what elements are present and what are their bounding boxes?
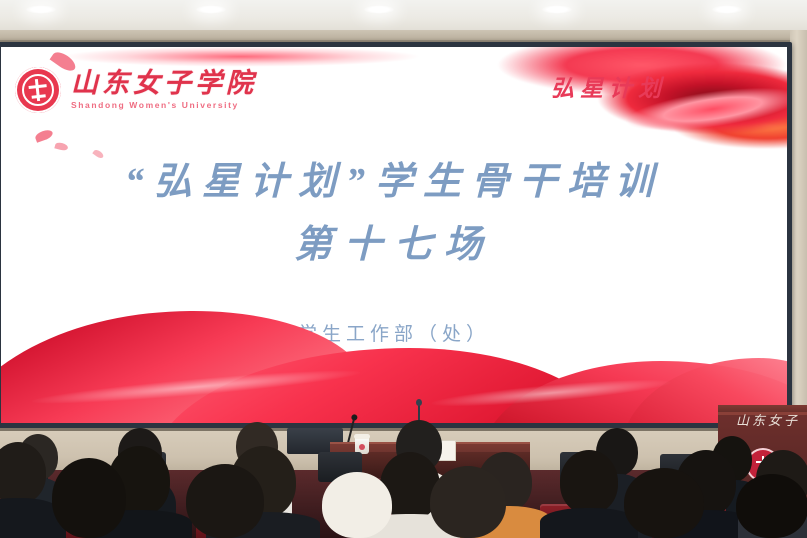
ceiling-light <box>364 5 394 14</box>
podium-label: 山东女子 <box>736 410 800 429</box>
shoulders <box>540 508 638 538</box>
presentation-slide: 弘星计划 山东女子学院 Shandong Women's University … <box>1 47 787 423</box>
head <box>186 464 264 538</box>
head <box>624 468 704 538</box>
ceiling-light <box>26 5 56 14</box>
head <box>430 466 506 538</box>
led-screen: 弘星计划 山东女子学院 Shandong Women's University … <box>1 47 787 423</box>
university-name-block: 山东女子学院 Shandong Women's University <box>71 70 257 110</box>
slide-title: “弘星计划”学生骨干培训 第十七场 <box>1 159 787 270</box>
corner-badge-text: 弘星计划 <box>551 69 667 103</box>
university-emblem-icon <box>15 67 61 113</box>
lecture-hall-photo: 弘星计划 山东女子学院 Shandong Women's University … <box>0 0 807 538</box>
head <box>322 472 392 538</box>
petal-decoration <box>54 141 68 151</box>
petal-decoration <box>92 148 104 159</box>
ceiling-light <box>196 5 226 14</box>
university-name-en: Shandong Women's University <box>71 100 257 110</box>
slide-title-line1: “弘星计划”学生骨干培训 <box>1 159 787 207</box>
petal-decoration <box>34 128 54 143</box>
led-screen-bezel: 弘星计划 山东女子学院 Shandong Women's University … <box>0 42 792 428</box>
slide-title-line2: 第十七场 <box>1 221 787 270</box>
university-logo: 山东女子学院 Shandong Women's University <box>15 67 257 113</box>
cup-logo-icon <box>359 444 365 450</box>
ceiling-light <box>542 5 572 14</box>
ceiling <box>0 0 807 30</box>
university-name-cn: 山东女子学院 <box>71 70 257 97</box>
head <box>736 474 807 538</box>
head <box>52 458 126 538</box>
head <box>560 450 618 514</box>
right-wall <box>790 30 807 460</box>
ribbon-graphic-bottom <box>1 273 787 423</box>
ribbon-sweep-top-left <box>31 47 451 67</box>
ceiling-light <box>712 5 742 14</box>
